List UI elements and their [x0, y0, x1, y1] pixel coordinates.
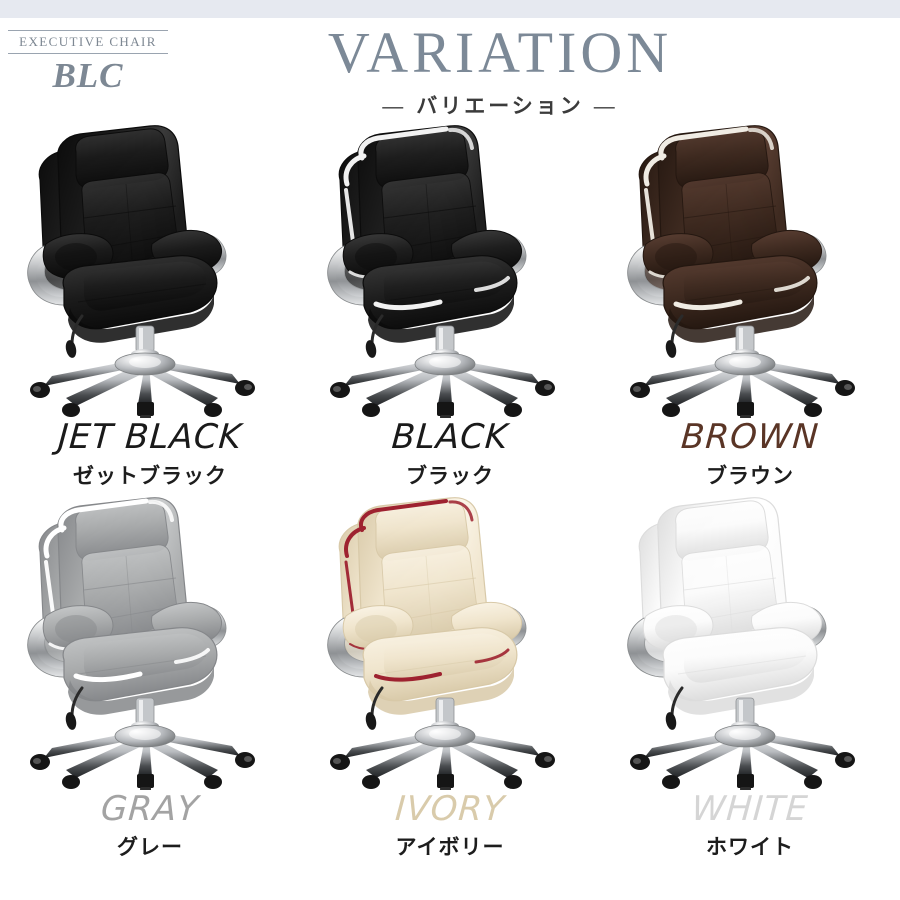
caster-right-front: [504, 403, 522, 417]
variation-item-gray[interactable]: GRAYグレー: [0, 490, 300, 862]
variation-image-brown[interactable]: [600, 118, 900, 418]
variation-name-ja: ゼットブラック: [0, 460, 300, 490]
chair-base: [644, 353, 840, 406]
caster-right-front: [804, 403, 822, 417]
caster-left-front: [62, 775, 80, 789]
caster-center-front: [737, 774, 754, 788]
tilt-lever-knob: [64, 711, 78, 731]
chair-illustration-ivory: [300, 490, 600, 790]
caster-center-front: [437, 774, 454, 788]
chair-illustration-black: [300, 118, 600, 418]
cylinder-highlight: [139, 328, 143, 350]
gas-cylinder: [436, 698, 454, 724]
dash-right-icon: —: [584, 95, 628, 118]
variation-name-en: GRAY: [0, 792, 301, 828]
caster-center-front: [137, 774, 154, 788]
chair-illustration-white: [600, 490, 900, 790]
tilt-lever-knob: [364, 339, 378, 359]
variation-name-ja: ブラウン: [600, 460, 900, 490]
caster-right-back-hub: [544, 384, 552, 390]
page-subtitle: —バリエーション—: [180, 90, 820, 120]
variation-row-1: JET BLACKゼットブラック: [0, 118, 900, 490]
chair-base: [344, 725, 540, 778]
tilt-lever-knob: [664, 339, 678, 359]
caster-left-front: [662, 403, 680, 417]
page-header: VARIATION —バリエーション—: [180, 24, 820, 120]
variation-caption-ivory: IVORYアイボリー: [300, 792, 600, 862]
variation-caption-gray: GRAYグレー: [0, 792, 300, 862]
chair-base: [344, 353, 540, 406]
variation-image-black[interactable]: [300, 118, 600, 418]
chair-base: [644, 725, 840, 778]
cylinder-highlight: [739, 700, 743, 722]
base-hub-highlight: [729, 728, 761, 740]
variation-image-gray[interactable]: [0, 490, 300, 790]
variation-name-en: BROWN: [599, 420, 900, 456]
caster-left-back-hub: [33, 758, 41, 764]
base-hub-highlight: [729, 356, 761, 368]
variation-name-en: WHITE: [599, 792, 900, 828]
caster-left-back-hub: [633, 758, 641, 764]
caster-right-back-hub: [244, 384, 252, 390]
caster-left-back-hub: [33, 386, 41, 392]
tilt-lever-knob: [664, 711, 678, 731]
caster-right-back-hub: [544, 756, 552, 762]
variation-image-jet-black[interactable]: [0, 118, 300, 418]
caster-left-back-hub: [333, 758, 341, 764]
caster-left-back-hub: [633, 386, 641, 392]
chair-base: [44, 353, 240, 406]
caster-right-front: [204, 775, 222, 789]
variation-caption-brown: BROWNブラウン: [600, 420, 900, 490]
tilt-lever-knob: [364, 711, 378, 731]
caster-center-front: [137, 402, 154, 416]
variation-name-en: IVORY: [299, 792, 601, 828]
variation-name-ja: ホワイト: [600, 831, 900, 861]
logo-category-label: EXECUTIVE CHAIR: [8, 31, 168, 53]
chair-illustration-gray: [0, 490, 300, 790]
gas-cylinder: [136, 326, 154, 352]
top-band: [0, 0, 900, 18]
gas-cylinder: [736, 698, 754, 724]
base-hub-highlight: [429, 728, 461, 740]
caster-left-front: [362, 403, 380, 417]
variation-caption-white: WHITEホワイト: [600, 792, 900, 862]
caster-center-front: [437, 402, 454, 416]
caster-left-front: [362, 775, 380, 789]
variation-name-ja: ブラック: [300, 460, 600, 490]
caster-left-back-hub: [333, 386, 341, 392]
variation-caption-black: BLACKブラック: [300, 420, 600, 490]
variation-caption-jet-black: JET BLACKゼットブラック: [0, 420, 300, 490]
caster-center-front: [737, 402, 754, 416]
page-subtitle-text: バリエーション: [416, 95, 584, 118]
cylinder-highlight: [739, 328, 743, 350]
variation-name-en: JET BLACK: [0, 420, 301, 456]
caster-right-back-hub: [844, 384, 852, 390]
logo-brand-name: BLC: [8, 54, 168, 95]
base-hub-highlight: [129, 728, 161, 740]
variation-item-jet-black[interactable]: JET BLACKゼットブラック: [0, 118, 300, 490]
product-variation-page: EXECUTIVE CHAIR BLC VARIATION —バリエーション—: [0, 0, 900, 900]
base-hub-highlight: [429, 356, 461, 368]
dash-left-icon: —: [372, 95, 416, 118]
variation-grid: JET BLACKゼットブラック: [0, 118, 900, 861]
caster-left-front: [62, 403, 80, 417]
variation-name-en: BLACK: [299, 420, 601, 456]
variation-image-ivory[interactable]: [300, 490, 600, 790]
chair-illustration-jet-black: [0, 118, 300, 418]
chair-illustration-brown: [600, 118, 900, 418]
page-title: VARIATION: [180, 24, 820, 82]
caster-right-front: [504, 775, 522, 789]
variation-item-black[interactable]: BLACKブラック: [300, 118, 600, 490]
caster-right-back-hub: [244, 756, 252, 762]
variation-image-white[interactable]: [600, 490, 900, 790]
variation-item-brown[interactable]: BROWNブラウン: [600, 118, 900, 490]
caster-right-back-hub: [844, 756, 852, 762]
gas-cylinder: [136, 698, 154, 724]
caster-right-front: [804, 775, 822, 789]
cylinder-highlight: [439, 700, 443, 722]
variation-item-white[interactable]: WHITEホワイト: [600, 490, 900, 862]
cylinder-highlight: [139, 700, 143, 722]
gas-cylinder: [436, 326, 454, 352]
brand-logo: EXECUTIVE CHAIR BLC: [8, 30, 168, 95]
caster-left-front: [662, 775, 680, 789]
variation-name-ja: アイボリー: [300, 831, 600, 861]
caster-right-front: [204, 403, 222, 417]
gas-cylinder: [736, 326, 754, 352]
base-hub-highlight: [129, 356, 161, 368]
cylinder-highlight: [439, 328, 443, 350]
variation-item-ivory[interactable]: IVORYアイボリー: [300, 490, 600, 862]
variation-row-2: GRAYグレー: [0, 490, 900, 862]
tilt-lever-knob: [64, 339, 78, 359]
variation-name-ja: グレー: [0, 831, 300, 861]
chair-base: [44, 725, 240, 778]
